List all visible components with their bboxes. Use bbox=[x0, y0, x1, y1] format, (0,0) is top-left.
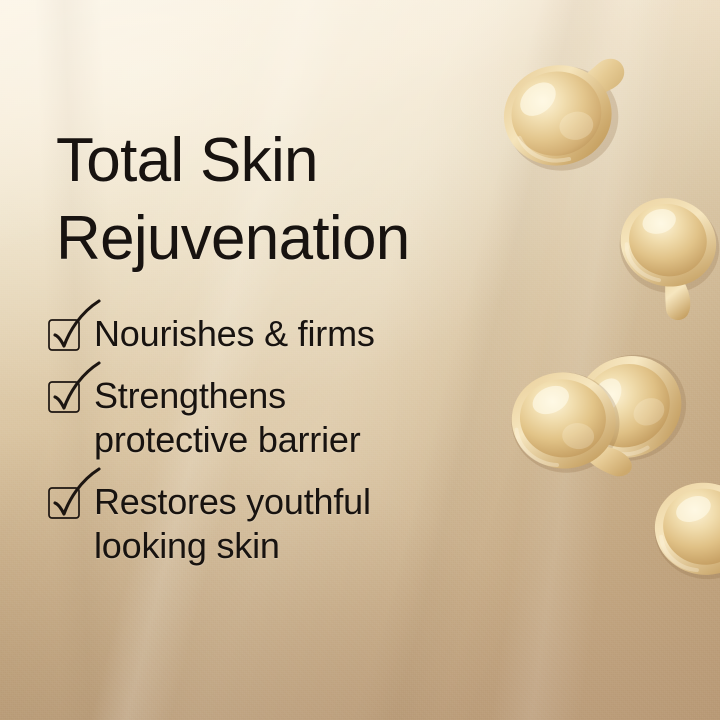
benefit-item-strengthens-barrier: Strengthens protective barrier bbox=[49, 374, 569, 462]
checked-checkbox-icon bbox=[49, 488, 79, 518]
benefit-label: Nourishes & firms bbox=[94, 312, 375, 356]
benefit-item-restores-youthful: Restores youthful looking skin bbox=[49, 480, 569, 568]
checked-checkbox-icon bbox=[49, 320, 79, 350]
benefit-label: Strengthens protective barrier bbox=[94, 374, 361, 462]
checked-checkbox-icon bbox=[49, 382, 79, 412]
benefit-item-nourishes-firms: Nourishes & firms bbox=[49, 312, 569, 356]
page-title: Total Skin Rejuvenation bbox=[56, 122, 576, 278]
skincare-promo-poster: Total Skin Rejuvenation Nourishes & firm… bbox=[0, 0, 720, 720]
benefit-label: Restores youthful looking skin bbox=[94, 480, 371, 568]
benefits-list: Nourishes & firms Strengthens protective… bbox=[49, 312, 569, 586]
poster-content: Total Skin Rejuvenation Nourishes & firm… bbox=[0, 0, 720, 720]
